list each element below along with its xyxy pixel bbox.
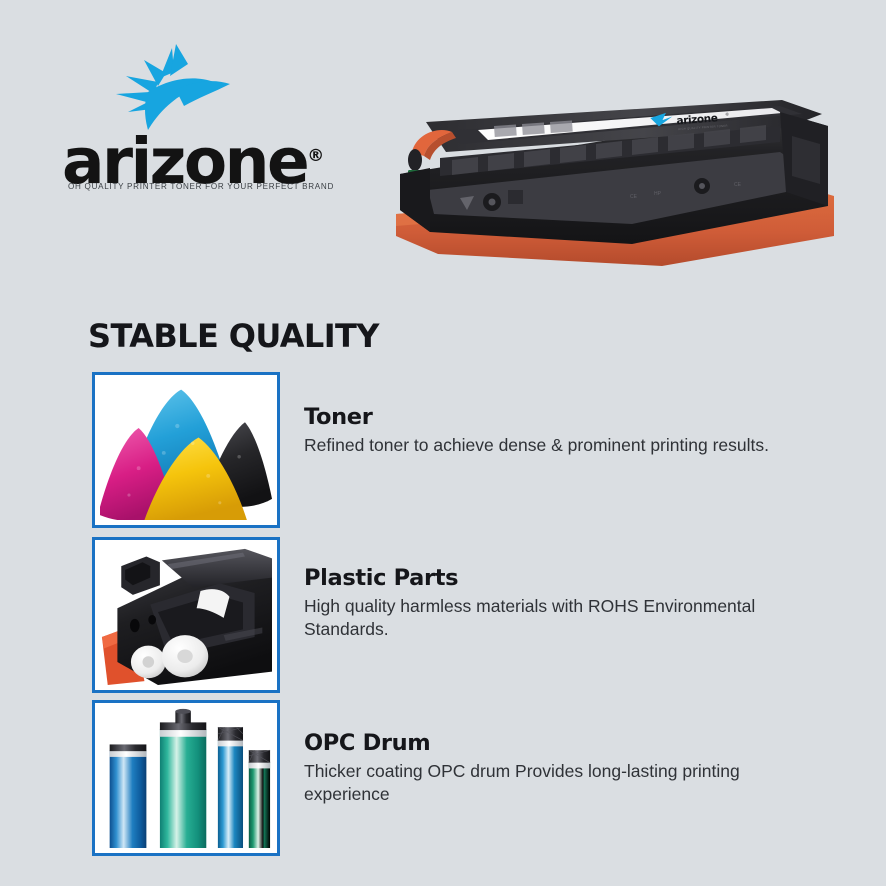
feature-thumbnail-plastic-parts [92, 537, 280, 693]
feature-title: OPC Drum [304, 730, 824, 757]
feature-title: Plastic Parts [304, 565, 824, 592]
feature-text-toner: Toner Refined toner to achieve dense & p… [304, 404, 824, 457]
brand-logo: arizone® OH QUALITY PRINTER TONER FOR YO… [62, 42, 334, 200]
feature-description: Thicker coating OPC drum Provides long-l… [304, 760, 774, 806]
brand-wordmark: arizone® [62, 130, 334, 182]
registered-trademark-icon: ® [307, 146, 324, 166]
infographic-page: arizone® OH QUALITY PRINTER TONER FOR YO… [0, 0, 886, 886]
feature-text-plastic-parts: Plastic Parts High quality harmless mate… [304, 565, 824, 641]
feature-text-opc-drum: OPC Drum Thicker coating OPC drum Provid… [304, 730, 824, 806]
flying-bird-icon [114, 42, 232, 130]
svg-text:HP: HP [654, 191, 662, 197]
section-title: STABLE QUALITY [88, 317, 379, 355]
svg-text:CE: CE [630, 194, 638, 200]
hero-product-image: arizone ® HIGH QUALITY PRINTER TONER [382, 86, 840, 278]
brand-tagline: OH QUALITY PRINTER TONER FOR YOUR PERFEC… [68, 182, 334, 191]
feature-description: High quality harmless materials with ROH… [304, 595, 774, 641]
feature-description: Refined toner to achieve dense & promine… [304, 434, 774, 457]
svg-text:CE: CE [734, 182, 742, 188]
svg-text:®: ® [725, 111, 729, 116]
feature-title: Toner [304, 404, 824, 431]
feature-thumbnail-opc-drum [92, 700, 280, 856]
feature-thumbnail-toner [92, 372, 280, 528]
